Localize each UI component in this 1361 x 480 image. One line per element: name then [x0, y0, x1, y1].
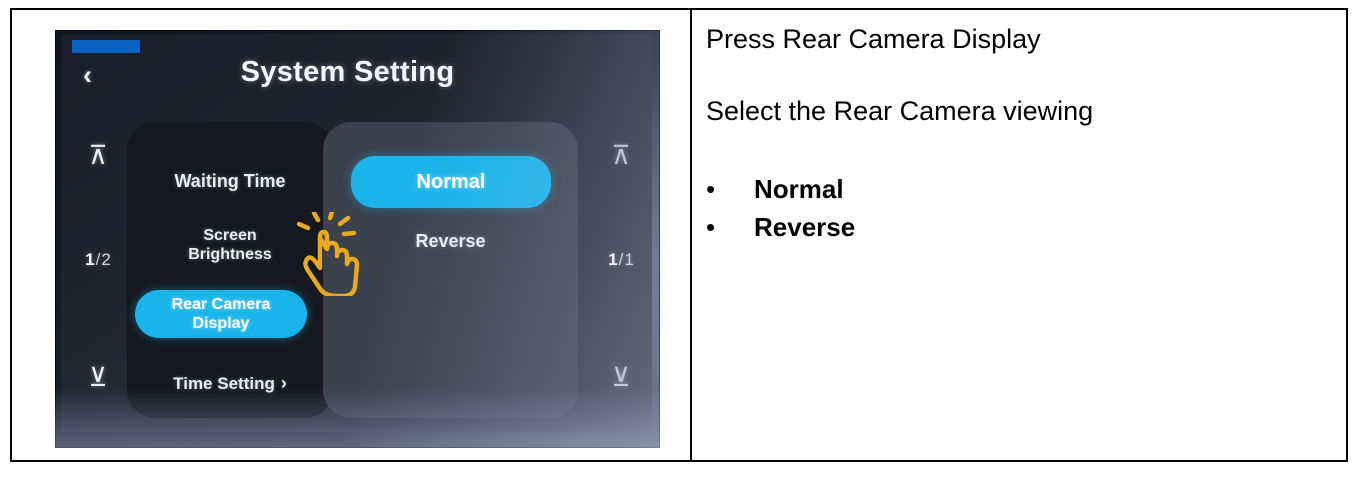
right-page-indicator: 1/1 — [590, 250, 652, 270]
chevron-right-icon: › — [275, 373, 287, 393]
bullet-icon: • — [706, 208, 740, 246]
option-reverse: Reverse — [323, 232, 578, 251]
menu-item-screen-brightness[interactable]: Screen Brightness — [127, 226, 333, 264]
scroll-down-icon[interactable]: ⊻ — [67, 364, 129, 390]
left-page-current: 1 — [85, 250, 94, 269]
menu-item-rear-camera-display[interactable]: Rear Camera Display — [135, 290, 307, 338]
right-nav-rail: ⊼ 1/1 ⊻ — [590, 118, 652, 422]
page-title: System Setting — [61, 56, 652, 89]
bullet-label: Normal — [740, 170, 844, 208]
option-normal[interactable]: Normal — [351, 156, 551, 208]
device-screen: ‹ System Setting ⊼ 1/2 ⊻ ⊼ 1/1 ⊻ — [61, 34, 652, 432]
options-panel: Normal Reverse — [323, 122, 578, 418]
table-cell-instructions: Press Rear Camera Display Select the Rea… — [692, 10, 1346, 460]
instruction-line-2: Select the Rear Camera viewing — [706, 96, 1346, 126]
settings-menu-panel: Waiting Time Screen Brightness Rear Came… — [127, 122, 333, 418]
bullet-icon: • — [706, 170, 740, 208]
scroll-up-icon[interactable]: ⊼ — [67, 142, 129, 168]
instruction-spacer — [706, 54, 1346, 96]
option-scroll-up-icon[interactable]: ⊼ — [590, 142, 652, 168]
option-scroll-down-icon[interactable]: ⊻ — [590, 364, 652, 390]
instruction-table: ‹ System Setting ⊼ 1/2 ⊻ ⊼ 1/1 ⊻ — [10, 8, 1348, 462]
list-item: • Normal — [706, 170, 1346, 208]
menu-item-screen-brightness-line1: Screen — [203, 227, 256, 244]
menu-item-screen-brightness-line2: Brightness — [188, 246, 272, 263]
menu-item-time-setting[interactable]: Time Setting› — [127, 374, 333, 393]
bullet-label: Reverse — [740, 208, 855, 246]
instruction-line-1: Press Rear Camera Display — [706, 24, 1346, 54]
left-page-indicator: 1/2 — [67, 250, 129, 270]
menu-item-waiting-time[interactable]: Waiting Time — [127, 172, 333, 191]
left-nav-rail: ⊼ 1/2 ⊻ — [67, 118, 129, 422]
option-bullet-list: • Normal • Reverse — [706, 170, 1346, 246]
left-page-total: 2 — [101, 250, 110, 269]
list-item: • Reverse — [706, 208, 1346, 246]
menu-item-rear-camera-display-line2: Display — [193, 315, 250, 332]
right-page-total: 1 — [624, 250, 633, 269]
right-page-current: 1 — [608, 250, 617, 269]
status-tab-indicator — [72, 40, 140, 53]
menu-item-rear-camera-display-line1: Rear Camera — [172, 296, 271, 313]
device-photo: ‹ System Setting ⊼ 1/2 ⊻ ⊼ 1/1 ⊻ — [55, 30, 660, 448]
table-cell-device-photo: ‹ System Setting ⊼ 1/2 ⊻ ⊼ 1/1 ⊻ — [12, 10, 692, 460]
menu-item-time-setting-label: Time Setting — [173, 374, 275, 393]
